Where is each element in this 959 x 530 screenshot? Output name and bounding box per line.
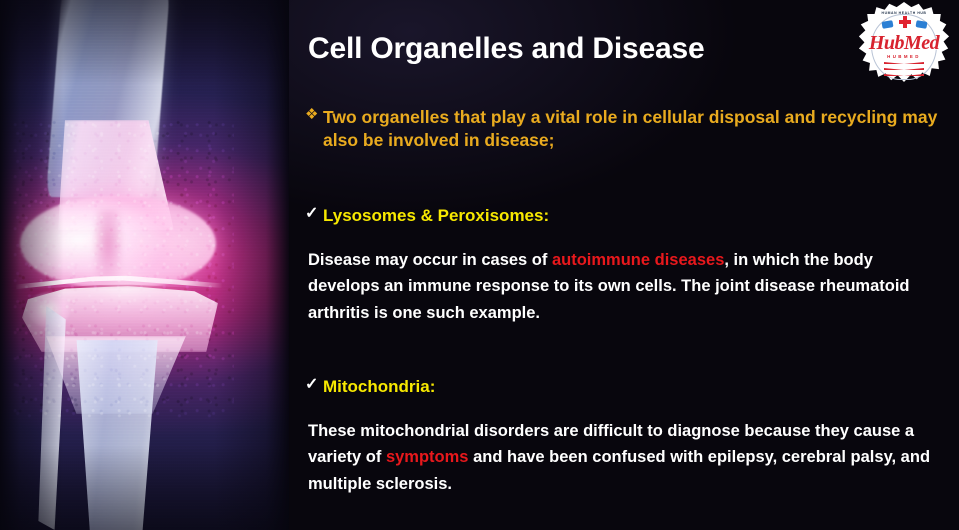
section-body-mitochondria: These mitochondrial disorders are diffic… [289,418,959,497]
section-heading-mitochondria: ✓ Mitochondria: [289,376,959,397]
checkmark-icon: ✓ [305,375,318,395]
logo-tagline: HUBMED [858,54,950,59]
body-text-part: Disease may occur in cases of [308,251,552,269]
intro-bullet: ❖ Two organelles that play a vital role … [289,106,959,153]
diamond-bullet-icon: ❖ [305,105,318,125]
page-title: Cell Organelles and Disease [308,32,828,66]
hubmed-logo[interactable]: HUMAN HEALTH HUB HubMed HUBMED [858,2,950,88]
logo-wordmark: HubMed [858,32,950,55]
logo-chevrons [884,62,924,78]
section-heading-label: Lysosomes & Peroxisomes: [323,206,549,225]
section-heading-label: Mitochondria: [323,377,435,396]
medical-cross-icon [899,16,911,28]
knee-joint-xray [0,0,289,530]
highlight-autoimmune-diseases: autoimmune diseases [552,251,724,269]
image-vignette [0,0,289,530]
slide: HUMAN HEALTH HUB HubMed HUBMED Cell Orga… [0,0,959,530]
section-heading-lysosomes: ✓ Lysosomes & Peroxisomes: [289,205,959,226]
section-body-lysosomes: Disease may occur in cases of autoimmune… [289,247,959,326]
highlight-symptoms: symptoms [386,448,469,466]
content-panel: HUMAN HEALTH HUB HubMed HUBMED Cell Orga… [289,0,959,530]
intro-bullet-text: Two organelles that play a vital role in… [308,106,959,153]
checkmark-icon: ✓ [305,204,318,224]
